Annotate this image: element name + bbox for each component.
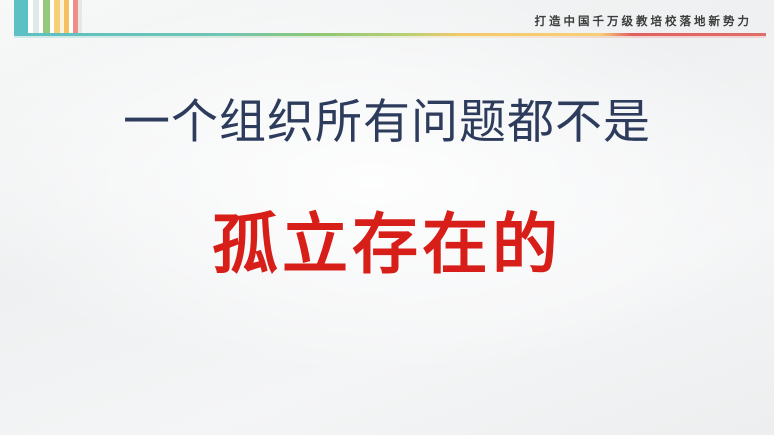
bar-teal xyxy=(14,0,28,33)
headline-primary: 一个组织所有问题都不是 xyxy=(0,96,774,150)
bar-green xyxy=(43,0,50,33)
slide-body: 一个组织所有问题都不是 孤立存在的 xyxy=(0,96,774,283)
header-gradient-rule-shadow xyxy=(14,36,766,38)
headline-accent: 孤立存在的 xyxy=(0,210,774,283)
header-tagline: 打造中国千万级教培校落地新势力 xyxy=(535,13,753,29)
decorative-color-bars xyxy=(14,0,82,33)
presentation-slide: 打造中国千万级教培校落地新势力 一个组织所有问题都不是 孤立存在的 xyxy=(0,0,774,435)
bar-gap-6 xyxy=(78,0,82,33)
